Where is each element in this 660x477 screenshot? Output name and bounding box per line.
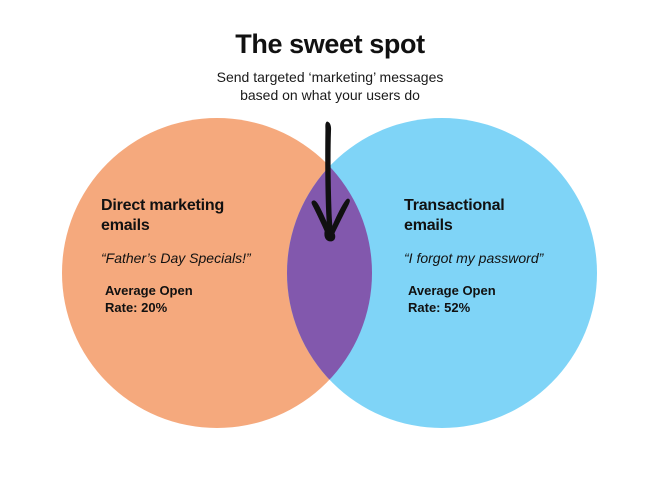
left-circle-text-block: Direct marketing emails “Father’s Day Sp… bbox=[101, 196, 276, 316]
left-circle-metric-value: Rate: 20% bbox=[105, 299, 276, 316]
right-circle-metric-label: Average Open bbox=[408, 282, 579, 299]
right-circle-example: “I forgot my password” bbox=[404, 249, 579, 267]
left-circle-heading-line-1: Direct marketing bbox=[101, 197, 224, 214]
diagram-canvas: The sweet spot Send targeted ‘marketing’… bbox=[0, 0, 660, 477]
right-circle-text-block: Transactional emails “I forgot my passwo… bbox=[404, 196, 579, 316]
left-circle-metric-label: Average Open bbox=[105, 282, 276, 299]
left-circle-heading-line-2: emails bbox=[101, 217, 150, 234]
right-circle-heading-line-2: emails bbox=[404, 217, 453, 234]
left-circle-example: “Father’s Day Specials!” bbox=[101, 249, 276, 267]
right-circle-heading: Transactional emails bbox=[404, 196, 579, 236]
right-circle-metric-value: Rate: 52% bbox=[408, 299, 579, 316]
left-circle-metric: Average Open Rate: 20% bbox=[105, 282, 276, 316]
right-circle-metric: Average Open Rate: 52% bbox=[408, 282, 579, 316]
right-circle-heading-line-1: Transactional bbox=[404, 197, 505, 214]
left-circle-heading: Direct marketing emails bbox=[101, 196, 276, 236]
